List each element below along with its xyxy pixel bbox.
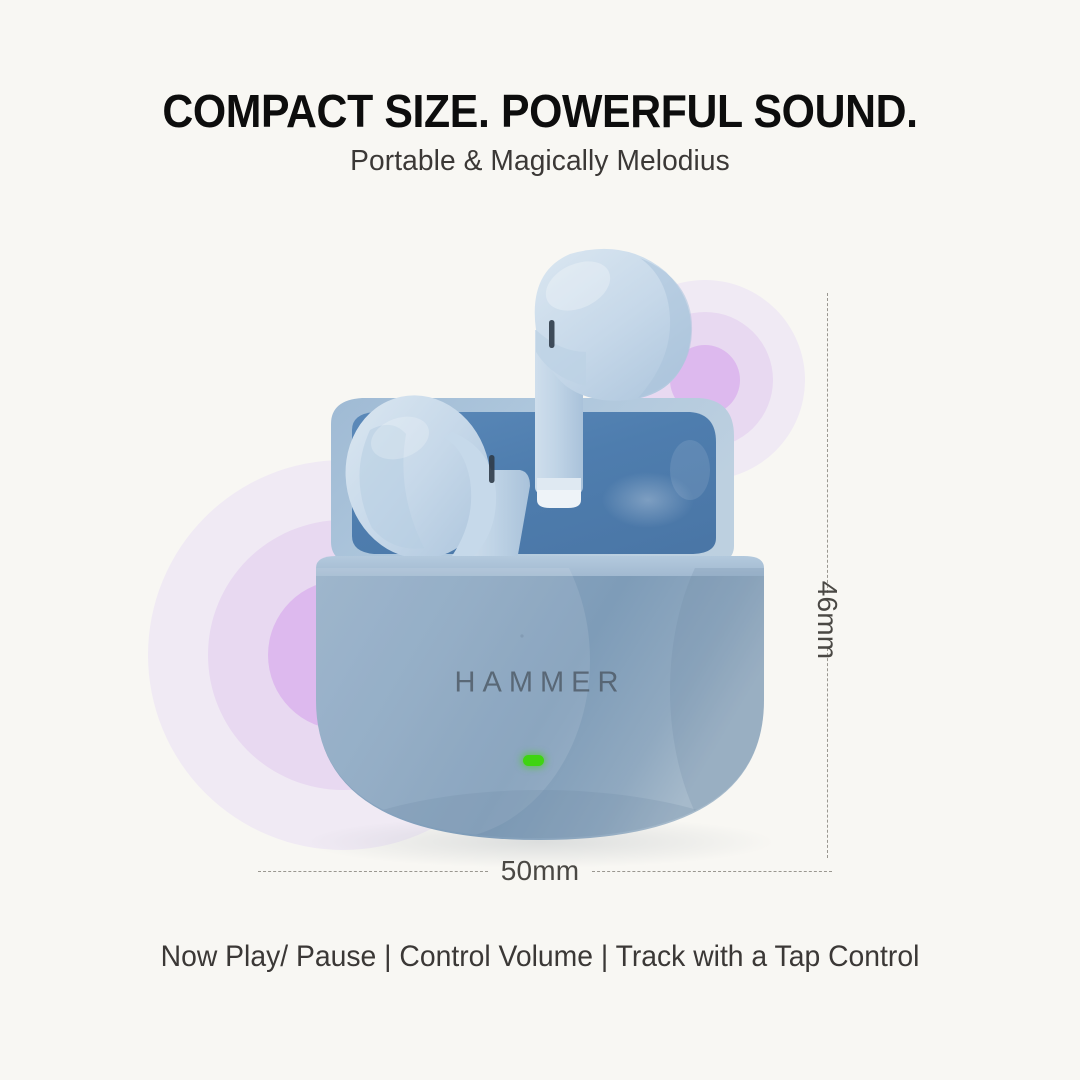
dimension-line-vertical-lower: [827, 648, 828, 858]
page-title: COMPACT SIZE. POWERFUL SOUND.: [38, 84, 1042, 138]
dimension-line-horizontal-left: [258, 871, 488, 872]
dimension-line-vertical-upper: [827, 293, 828, 593]
charging-indicator-led: [523, 755, 544, 766]
decor-ring-inner-right: [670, 345, 740, 415]
feature-caption: Now Play/ Pause | Control Volume | Track…: [22, 940, 1059, 974]
dimension-label-width: 50mm: [501, 855, 580, 887]
dimension-line-horizontal-right: [592, 871, 832, 872]
product-feature-image: COMPACT SIZE. POWERFUL SOUND. Portable &…: [0, 0, 1080, 1080]
brand-logo-text: HAMMER: [455, 667, 626, 700]
page-subtitle: Portable & Magically Melodius: [16, 145, 1064, 178]
decor-ring-inner-left: [268, 580, 418, 730]
dimension-label-height: 46mm: [811, 581, 843, 660]
